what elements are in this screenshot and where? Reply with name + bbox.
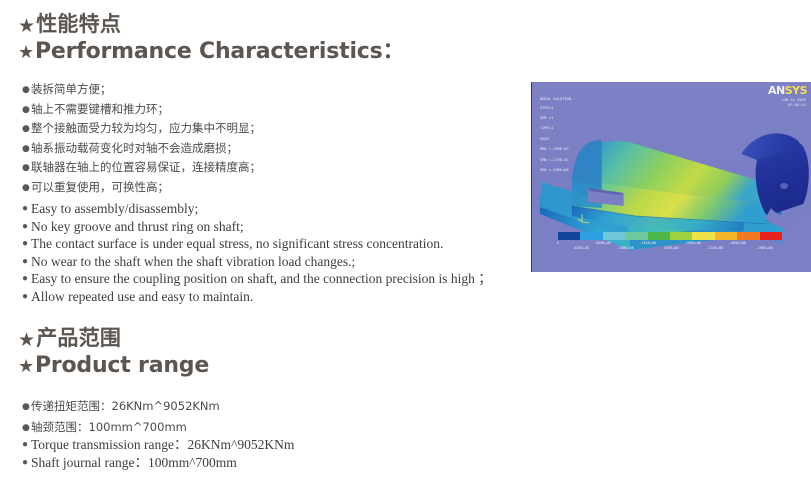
colorbar-band bbox=[648, 232, 670, 240]
star-icon: ★ bbox=[18, 331, 35, 350]
heading-chinese-text: 性能特点 bbox=[36, 12, 121, 36]
list-item-label: Shaft journal range：100mm^700mm bbox=[31, 455, 237, 470]
list-item-label: Easy to ensure the coupling position on … bbox=[31, 271, 492, 286]
heading-chinese-performance: ★性能特点 bbox=[18, 12, 404, 37]
bullet-icon: ● bbox=[22, 458, 31, 468]
star-icon: ★ bbox=[18, 358, 34, 376]
fea-meta-line: NODAL SOLUTION bbox=[540, 97, 571, 102]
fea-meta-line: SMN =.179E-01 bbox=[540, 158, 569, 162]
fea-meta-line: SUB =1 bbox=[540, 116, 553, 120]
list-item: ●轴系振动载荷变化时对轴不会造成磨损； bbox=[22, 139, 261, 159]
colorbar-gradient bbox=[558, 232, 782, 240]
bullet-icon: ● bbox=[22, 257, 31, 267]
colorbar-tick: .866E+05 bbox=[594, 241, 611, 245]
list-item: ●The contact surface is under equal stre… bbox=[22, 235, 492, 253]
colorbar-tick-labels: 0 .866E+05 .133E+06 .199E+06 .265E+06 .4… bbox=[558, 241, 782, 255]
fea-meta-line: TIME=1 bbox=[540, 126, 553, 130]
list-item: ●Easy to ensure the coupling position on… bbox=[22, 270, 492, 288]
colorbar-tick: .232E+06 bbox=[706, 246, 723, 250]
fea-timestamp-date: JUN 24 2009 bbox=[781, 98, 806, 102]
colorbar-band bbox=[760, 232, 782, 240]
performance-list-chinese: ●装拆简单方便； ●轴上不需要键槽和推力环； ●整个接触面受力较为均匀，应力集中… bbox=[22, 80, 261, 197]
bullet-icon: ● bbox=[22, 222, 31, 232]
list-item: ●No key groove and thrust ring on shaft; bbox=[22, 218, 492, 236]
heading-english-text: Product range bbox=[35, 353, 209, 378]
list-item-label: No wear to the shaft when the shaft vibr… bbox=[31, 254, 355, 269]
axis-triad-icon bbox=[576, 210, 592, 224]
bullet-icon: ● bbox=[22, 145, 31, 154]
colorbar-tick: .166E+06 bbox=[661, 246, 678, 250]
star-icon: ★ bbox=[18, 44, 34, 62]
list-item: ●可以重复使用，可换性高； bbox=[22, 178, 261, 198]
fea-meta-line: STEP=1 bbox=[540, 106, 553, 110]
list-item-label: 可以重复使用，可换性高； bbox=[31, 180, 169, 194]
bullet-icon: ● bbox=[22, 204, 31, 214]
bullet-icon: ● bbox=[22, 125, 31, 134]
colorbar-tick: .133E+06 bbox=[639, 241, 656, 245]
list-item-label: Allow repeated use and easy to maintain. bbox=[31, 289, 253, 304]
list-item: ●传递扭矩范围：26KNm^9052KNm bbox=[22, 396, 220, 417]
list-item: ●装拆简单方便； bbox=[22, 80, 261, 100]
fea-timestamp: JUN 24 2009 07:08:44 bbox=[781, 98, 806, 107]
heading-english-performance: ★Performance Characteristics： bbox=[18, 38, 404, 65]
list-item-label: 轴系振动载荷变化时对轴不会造成磨损； bbox=[31, 141, 238, 155]
list-item: ●轴颈范围：100mm^700mm bbox=[22, 417, 220, 438]
list-item-label: 装拆简单方便； bbox=[31, 82, 112, 96]
stress-colorbar: 0 .866E+05 .133E+06 .199E+06 .265E+06 .4… bbox=[558, 232, 782, 255]
fea-meta-line: SMX =.298E+06 bbox=[540, 168, 569, 172]
ansys-logo-an: AN bbox=[768, 84, 785, 97]
colorbar-band bbox=[670, 232, 692, 240]
colorbar-band bbox=[692, 232, 714, 240]
list-item: ●No wear to the shaft when the shaft vib… bbox=[22, 253, 492, 271]
performance-list-english: ●Easy to assembly/disassembly; ●No key g… bbox=[22, 200, 492, 305]
list-item-label: 轴上不需要键槽和推力环； bbox=[31, 102, 169, 116]
bullet-icon: ● bbox=[22, 106, 31, 115]
colorbar-band bbox=[603, 232, 625, 240]
colorbar-tick: 0 bbox=[557, 241, 559, 245]
bullet-icon: ● bbox=[22, 440, 31, 450]
list-item-label: No key groove and thrust ring on shaft; bbox=[31, 219, 244, 234]
colorbar-band bbox=[580, 232, 602, 240]
colorbar-band bbox=[715, 232, 737, 240]
bullet-icon: ● bbox=[22, 424, 31, 433]
fea-solution-info: NODAL SOLUTIONSTEP=1 SUB =1 TIME=1 SEQV … bbox=[540, 87, 571, 178]
fea-analysis-image: NODAL SOLUTIONSTEP=1 SUB =1 TIME=1 SEQV … bbox=[531, 82, 811, 272]
fea-meta-line: DMX =.289E-03 bbox=[540, 147, 569, 151]
section-heading-performance: ★性能特点 ★Performance Characteristics： bbox=[18, 12, 404, 65]
ansys-logo-sys: SYS bbox=[785, 84, 807, 97]
list-item: ●Allow repeated use and easy to maintain… bbox=[22, 288, 492, 306]
list-item: ●整个接触面受力较为均匀，应力集中不明显； bbox=[22, 119, 261, 139]
fea-timestamp-time: 07:08:44 bbox=[788, 103, 806, 107]
list-item-label: Torque transmission range：26KNm^9052KNm bbox=[31, 437, 294, 452]
bullet-icon: ● bbox=[22, 403, 31, 412]
colorbar-band bbox=[625, 232, 647, 240]
list-item: ●轴上不需要键槽和推力环； bbox=[22, 100, 261, 120]
list-item-label: 联轴器在轴上的位置容易保证，连接精度高； bbox=[31, 160, 261, 174]
product-range-list-chinese: ●传递扭矩范围：26KNm^9052KNm ●轴颈范围：100mm^700mm bbox=[22, 396, 220, 438]
list-item-label: 轴颈范围：100mm^700mm bbox=[31, 420, 187, 434]
product-spec-page: ★性能特点 ★Performance Characteristics： ●装拆简… bbox=[0, 0, 811, 477]
list-item: ●联轴器在轴上的位置容易保证，连接精度高； bbox=[22, 158, 261, 178]
star-icon: ★ bbox=[18, 17, 35, 36]
fea-viewport: NODAL SOLUTIONSTEP=1 SUB =1 TIME=1 SEQV … bbox=[532, 82, 811, 272]
section-heading-product-range: ★产品范围 ★Product range bbox=[18, 326, 209, 379]
colorbar-band bbox=[737, 232, 759, 240]
heading-chinese-text: 产品范围 bbox=[36, 326, 121, 350]
colorbar-tick: .298E+06 bbox=[755, 246, 772, 250]
colorbar-band bbox=[558, 232, 580, 240]
bullet-icon: ● bbox=[22, 274, 31, 284]
fea-meta-line: SEQV bbox=[540, 137, 549, 141]
list-item: ●Torque transmission range：26KNm^9052KNm bbox=[22, 436, 294, 454]
list-item: ●Shaft journal range：100mm^700mm bbox=[22, 454, 294, 472]
heading-chinese-product-range: ★产品范围 bbox=[18, 326, 209, 351]
colorbar-tick: .100E+06 bbox=[617, 246, 634, 250]
bullet-icon: ● bbox=[22, 184, 31, 193]
list-item: ●Easy to assembly/disassembly; bbox=[22, 200, 492, 218]
bullet-icon: ● bbox=[22, 86, 31, 95]
bullet-icon: ● bbox=[22, 164, 31, 173]
colorbar-tick: .199E+06 bbox=[684, 241, 701, 245]
list-item-label: 整个接触面受力较为均匀，应力集中不明显； bbox=[31, 121, 261, 135]
bullet-icon: ● bbox=[22, 292, 31, 302]
list-item-label: The contact surface is under equal stres… bbox=[31, 236, 443, 251]
list-item-label: 传递扭矩范围：26KNm^9052KNm bbox=[31, 399, 220, 413]
heading-english-text: Performance Characteristics： bbox=[35, 39, 404, 64]
ansys-logo: ANSYS bbox=[768, 85, 807, 96]
colorbar-tick: .265E+06 bbox=[729, 241, 746, 245]
heading-english-product-range: ★Product range bbox=[18, 352, 209, 379]
product-range-list-english: ●Torque transmission range：26KNm^9052KNm… bbox=[22, 436, 294, 471]
colorbar-tick: .433E+05 bbox=[572, 246, 589, 250]
list-item-label: Easy to assembly/disassembly; bbox=[31, 201, 198, 216]
bullet-icon: ● bbox=[22, 239, 31, 249]
